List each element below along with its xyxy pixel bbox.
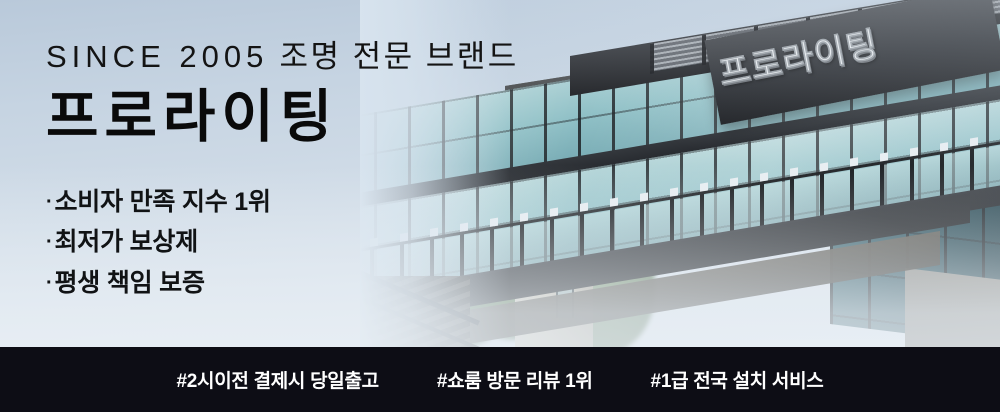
brand-name: 프로라이팅	[46, 88, 666, 148]
feature-bullet-list: ·소비자 만족 지수 1위 ·최저가 보상제 ·평생 책임 보증	[46, 182, 666, 304]
building-base-wall	[905, 268, 1000, 347]
headline-block: SINCE 2005 조명 전문 브랜드 프로라이팅 ·소비자 만족 지수 1위…	[46, 40, 666, 303]
benefit-item-same-day-shipping: #2시이전 결제시 당일출고	[177, 366, 379, 393]
eyebrow-korean-label: 조명 전문 브랜드	[279, 39, 518, 74]
list-item-label: 평생 책임 보증	[54, 269, 204, 297]
benefit-item-showroom-review: #쇼룸 방문 리뷰 1위	[437, 366, 593, 393]
bottom-benefit-bar: #2시이전 결제시 당일출고 #쇼룸 방문 리뷰 1위 #1급 전국 설치 서비…	[0, 347, 1000, 412]
bullet-dot-icon: ·	[46, 191, 52, 213]
list-item: ·최저가 보상제	[46, 222, 666, 263]
bullet-dot-icon: ·	[46, 231, 52, 253]
benefit-item-nationwide-install: #1급 전국 설치 서비스	[651, 366, 824, 393]
eyebrow-line: SINCE 2005 조명 전문 브랜드	[46, 40, 666, 74]
list-item: ·평생 책임 보증	[46, 263, 666, 304]
list-item-label: 최저가 보상제	[54, 228, 198, 256]
eyebrow-since-label: SINCE 2005	[46, 39, 268, 74]
list-item-label: 소비자 만족 지수 1위	[54, 188, 270, 216]
list-item: ·소비자 만족 지수 1위	[46, 182, 666, 223]
bullet-dot-icon: ·	[46, 272, 52, 294]
promo-banner: 프로라이팅 SINCE 2005 조명 전문 브랜드 프로라이팅 ·소비자 만족…	[0, 0, 1000, 412]
